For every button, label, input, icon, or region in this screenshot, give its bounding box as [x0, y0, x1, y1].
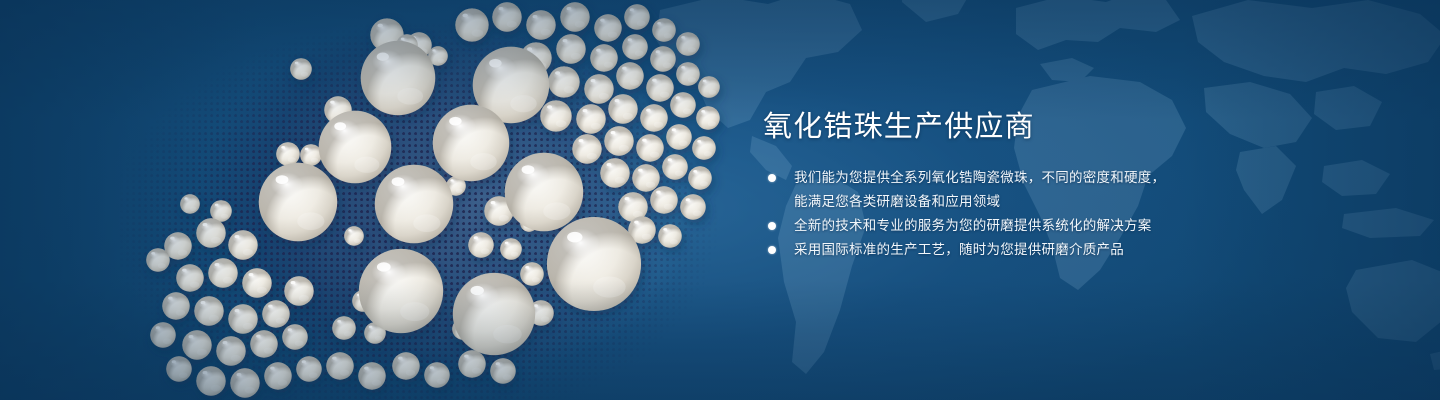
banner-copy: 氧化锆珠生产供应商 我们能为您提供全系列氧化锆陶瓷微珠，不同的密度和硬度， 能满…	[763, 108, 1233, 262]
page-title: 氧化锆珠生产供应商	[763, 108, 1233, 144]
list-item-line-1: 全新的技术和专业的服务为您的研磨提供系统化的解决方案	[794, 214, 1233, 238]
bullet-dot-icon	[768, 222, 776, 230]
list-item: 采用国际标准的生产工艺，随时为您提供研磨介质产品	[763, 238, 1233, 262]
hero-banner: 氧化锆珠生产供应商 我们能为您提供全系列氧化锆陶瓷微珠，不同的密度和硬度， 能满…	[0, 0, 1440, 400]
bullet-dot-icon	[768, 174, 776, 182]
feature-list: 我们能为您提供全系列氧化锆陶瓷微珠，不同的密度和硬度， 能满足您各类研磨设备和应…	[763, 166, 1233, 262]
list-item: 全新的技术和专业的服务为您的研磨提供系统化的解决方案	[763, 214, 1233, 238]
list-item: 我们能为您提供全系列氧化锆陶瓷微珠，不同的密度和硬度， 能满足您各类研磨设备和应…	[763, 166, 1233, 214]
list-item-line-1: 采用国际标准的生产工艺，随时为您提供研磨介质产品	[794, 238, 1233, 262]
list-item-line-1: 我们能为您提供全系列氧化锆陶瓷微珠，不同的密度和硬度，	[794, 166, 1233, 190]
bullet-dot-icon	[768, 246, 776, 254]
list-item-line-2: 能满足您各类研磨设备和应用领域	[794, 190, 1233, 214]
